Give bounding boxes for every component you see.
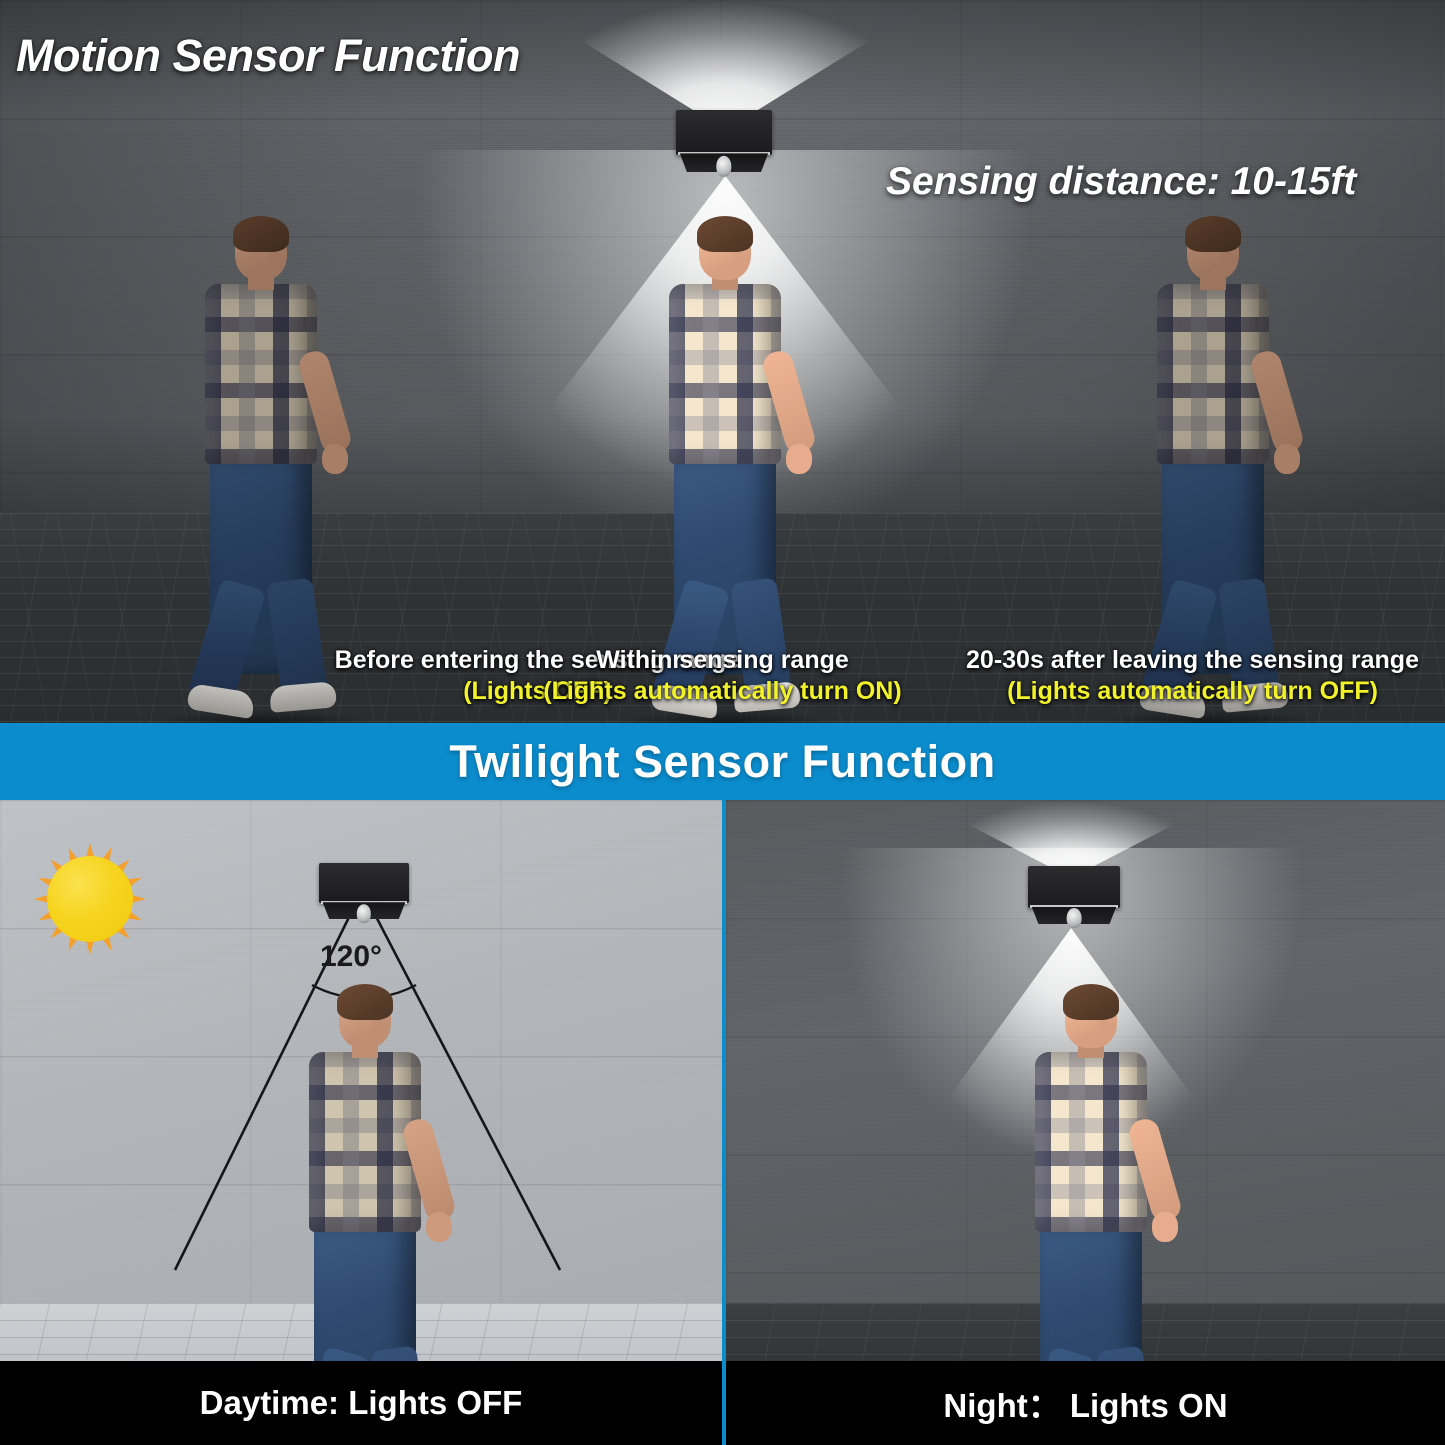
panel-divider: [722, 800, 726, 1445]
person-hand: [1152, 1212, 1178, 1242]
motion-sensor-dome: [716, 155, 731, 176]
person-hair: [697, 216, 753, 252]
person-hair: [337, 984, 393, 1020]
person-hand: [1274, 444, 1300, 474]
sensing-distance-label: Sensing distance: 10-15ft: [886, 160, 1356, 204]
person-hair: [1185, 216, 1241, 252]
night-panel: [726, 800, 1445, 1445]
caption-line-primary: 20-30s after leaving the sensing range: [470, 645, 1445, 676]
caption-after-range: 20-30s after leaving the sensing range (…: [470, 645, 1445, 706]
person-plaid-shirt: [1035, 1052, 1147, 1232]
person-hair: [233, 216, 289, 252]
daytime-caption-text: Daytime: Lights OFF: [200, 1384, 523, 1422]
daytime-caption-bar: Daytime: Lights OFF: [0, 1361, 722, 1445]
motion-section-title: Motion Sensor Function: [16, 30, 520, 82]
lamp-body: [676, 110, 772, 155]
person-plaid-shirt: [1157, 284, 1269, 464]
lamp-body: [319, 863, 409, 903]
person-hand: [426, 1212, 452, 1242]
person-hand: [322, 444, 348, 474]
product-infographic: Motion Sensor Function Sensing distance:…: [0, 0, 1445, 1445]
sun-disc: [47, 856, 133, 942]
twilight-banner-title: Twilight Sensor Function: [449, 736, 995, 788]
night-caption-text: Night： Lights ON: [943, 1379, 1227, 1427]
caption-line-status: (Lights automatically turn OFF): [470, 676, 1445, 707]
person-hair: [1063, 984, 1119, 1020]
wall-lamp-fixture: [676, 110, 772, 172]
sun-icon: [34, 843, 146, 955]
motion-sensor-dome: [357, 904, 371, 923]
person-hand: [786, 444, 812, 474]
detection-angle-label: 120°: [320, 940, 382, 974]
person-plaid-shirt: [205, 284, 317, 464]
wall-lamp-fixture-day: [319, 863, 409, 919]
person-plaid-shirt: [309, 1052, 421, 1232]
motion-sensor-panel: Motion Sensor Function Sensing distance:…: [0, 0, 1445, 723]
lamp-body: [1028, 866, 1120, 908]
twilight-section-banner: Twilight Sensor Function: [0, 723, 1445, 800]
night-caption-bar: Night： Lights ON: [726, 1361, 1445, 1445]
wall-lamp-fixture-night: [1028, 866, 1120, 924]
motion-sensor-dome: [1067, 908, 1082, 928]
person-plaid-shirt: [669, 284, 781, 464]
